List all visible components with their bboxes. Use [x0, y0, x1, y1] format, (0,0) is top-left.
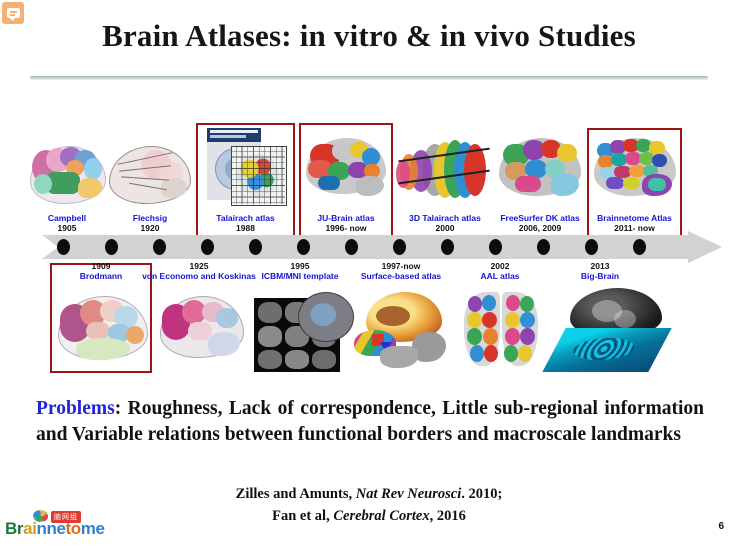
timeline-dot [201, 239, 214, 255]
timeline-dot [57, 239, 70, 255]
citation-line-2: Fan et al, Cerebral Cortex, 2016 [0, 506, 738, 528]
figure-3d-talairach-atlas [396, 136, 492, 210]
figure-brainnetome-atlas [592, 134, 678, 210]
figure-surface-based-atlas [350, 290, 456, 372]
figure-ju-brain-atlas [304, 134, 388, 210]
timeline-dot [153, 239, 166, 255]
comment-line-2 [10, 14, 15, 16]
timeline-dot [249, 239, 262, 255]
figure-aal-atlas [462, 290, 542, 370]
timeline-dot [537, 239, 550, 255]
timeline-dot [105, 239, 118, 255]
label-name: Big-Brain [550, 272, 650, 282]
timeline-dot [585, 239, 598, 255]
brainnetome-logo: 脑网组 Brainnetome [5, 519, 105, 543]
label-name: von Economo and Koskinas [138, 272, 260, 282]
comment-line-1 [10, 11, 17, 13]
figure-campbell [28, 138, 106, 210]
timeline-tail-notch [42, 235, 58, 259]
label-surface-based-atlas: 1997-now Surface-based atlas [346, 262, 456, 282]
figure-talairach-atlas [203, 128, 289, 210]
label-von-economo: 1925 von Economo and Koskinas [138, 262, 260, 282]
label-name: AAL atlas [450, 272, 550, 282]
problems-keyword: Problems [36, 398, 115, 419]
citation-authors: Zilles and Amunts, [236, 486, 356, 502]
title-divider [30, 76, 708, 80]
logo-badge-chinese: 脑网组 [51, 511, 81, 523]
slide-canvas: Brain Atlases: in vitro & in vivo Studie… [0, 0, 738, 546]
citation-line-1: Zilles and Amunts, Nat Rev Neurosci. 201… [0, 484, 738, 506]
timeline-arrow-head [688, 231, 722, 263]
problems-paragraph: Problems: Roughness, Lack of corresponde… [36, 396, 704, 447]
timeline-dot [441, 239, 454, 255]
timeline-dot [297, 239, 310, 255]
figure-big-brain [548, 288, 668, 374]
label-aal-atlas: 2002 AAL atlas [450, 262, 550, 282]
citation-journal: Cerebral Cortex [333, 508, 429, 524]
citation-authors: Fan et al, [272, 508, 333, 524]
figure-brodmann [56, 292, 148, 370]
figure-freesurfer-dk-atlas [497, 134, 583, 210]
citations: Zilles and Amunts, Nat Rev Neurosci. 201… [0, 484, 738, 528]
problems-text: Roughness, Lack of correspondence, Littl… [36, 398, 704, 445]
label-name: Surface-based atlas [346, 272, 456, 282]
brain-logo-icon [33, 510, 48, 522]
comment-bubble-shape [7, 8, 20, 18]
timeline-dot [345, 239, 358, 255]
label-brodmann: 1909 Brodmann [50, 262, 152, 282]
timeline-arrow [20, 231, 722, 263]
label-name: ICBM/MNI template [248, 272, 352, 282]
citation-journal: Nat Rev Neurosci [356, 486, 462, 502]
page-title: Brain Atlases: in vitro & in vivo Studie… [0, 18, 738, 54]
page-number: 6 [718, 521, 724, 532]
label-icbm-mni-template: 1995 ICBM/MNI template [248, 262, 352, 282]
timeline-dot [393, 239, 406, 255]
label-big-brain: 2013 Big-Brain [550, 262, 650, 282]
figure-von-economo [158, 292, 244, 368]
citation-year: . 2010; [461, 486, 502, 502]
timeline-dot [489, 239, 502, 255]
timeline-dot [633, 239, 646, 255]
citation-year: , 2016 [430, 508, 466, 524]
figure-flechsig [107, 140, 191, 210]
figure-icbm-mni-template [254, 292, 354, 372]
label-name: Brodmann [50, 272, 152, 282]
